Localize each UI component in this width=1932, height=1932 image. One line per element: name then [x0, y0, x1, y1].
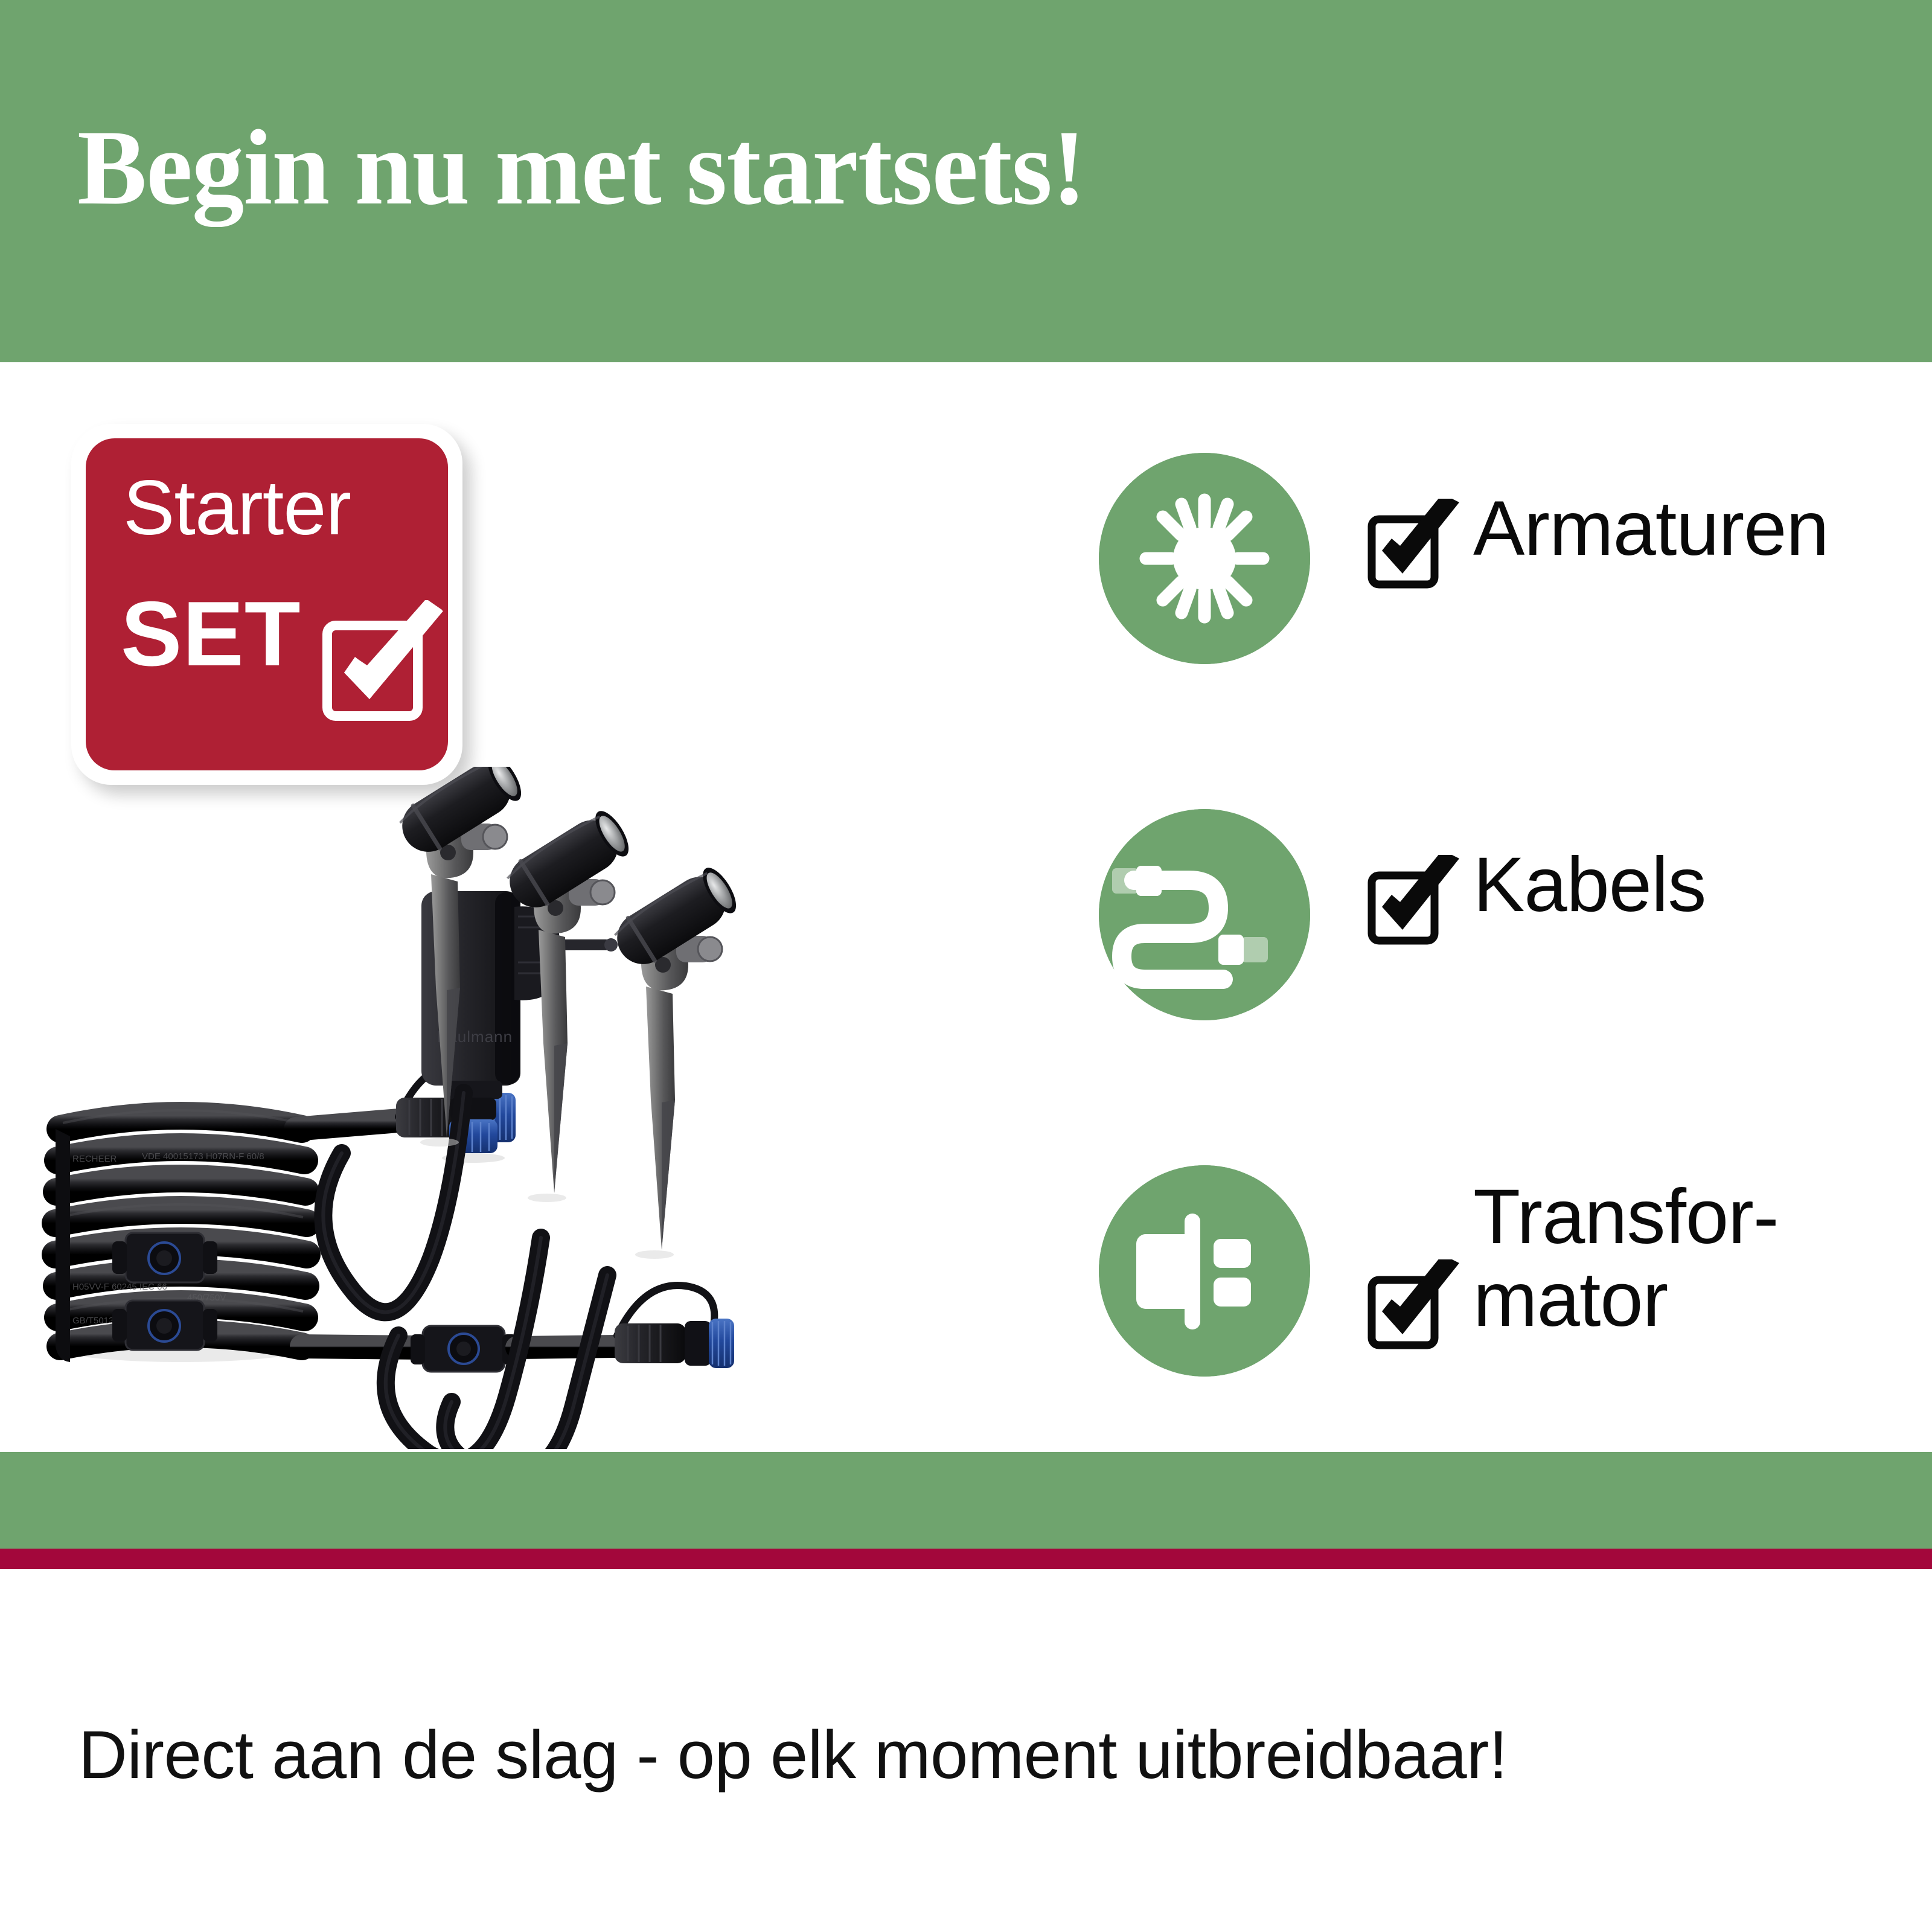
checkbox-checked-icon — [1367, 1259, 1464, 1353]
feature-label-armaturen: Armaturen — [1473, 488, 1829, 571]
cable-icon — [1099, 809, 1310, 1020]
checkbox-checked-icon — [1367, 855, 1464, 948]
power-plug-icon — [1099, 1165, 1310, 1377]
badge-label-starter: Starter — [123, 470, 351, 547]
power-plug-icon-badge — [1099, 1165, 1310, 1377]
starter-set-badge-body: Starter SET — [86, 438, 448, 770]
cable-icon-badge — [1099, 809, 1310, 1020]
cable-connector-4 — [302, 1326, 616, 1372]
sun-icon-badge — [1099, 453, 1310, 664]
feature-list: Armaturen Kabels — [1099, 453, 1902, 1419]
starter-set-badge: Starter SET — [71, 424, 462, 785]
svg-text:H05VV-F 60245 IEC 66: H05VV-F 60245 IEC 66 — [72, 1282, 167, 1292]
badge-label-set: SET — [121, 588, 301, 680]
top-banner: Begin nu met startsets! — [0, 0, 1932, 362]
product-photo: RECHEER VDE 40015173 H07RN-F 60/8 CCC A0… — [36, 767, 1141, 1449]
feature-label-transformator: Transfor- mator — [1473, 1176, 1778, 1342]
checkbox-checked-icon — [1367, 499, 1464, 592]
bottom-red-band — [0, 1549, 1932, 1569]
svg-text:RECHEER: RECHEER — [72, 1154, 117, 1164]
cable-connector-2 — [112, 1300, 217, 1350]
footer-caption: Direct aan de slag - op elk moment uitbr… — [78, 1716, 1508, 1794]
feature-item-transformator: Transfor- mator — [1099, 1165, 1902, 1377]
cable-connector-5 — [615, 1285, 734, 1368]
sun-icon — [1099, 453, 1310, 664]
cable-connector-1 — [112, 1233, 217, 1282]
bottom-green-band — [0, 1452, 1932, 1549]
svg-text:VDE 40015173 H07RN-F 60/8: VDE 40015173 H07RN-F 60/8 — [142, 1151, 264, 1162]
spike-spotlight-3 — [607, 862, 743, 1259]
page-title: Begin nu met startsets! — [77, 114, 1086, 221]
checkbox-checked-icon — [322, 600, 449, 721]
feature-label-kabels: Kabels — [1473, 844, 1706, 927]
feature-item-armaturen: Armaturen — [1099, 453, 1902, 664]
feature-item-kabels: Kabels — [1099, 809, 1902, 1020]
cable-coil: RECHEER VDE 40015173 H07RN-F 60/8 CCC A0… — [51, 1110, 311, 1362]
